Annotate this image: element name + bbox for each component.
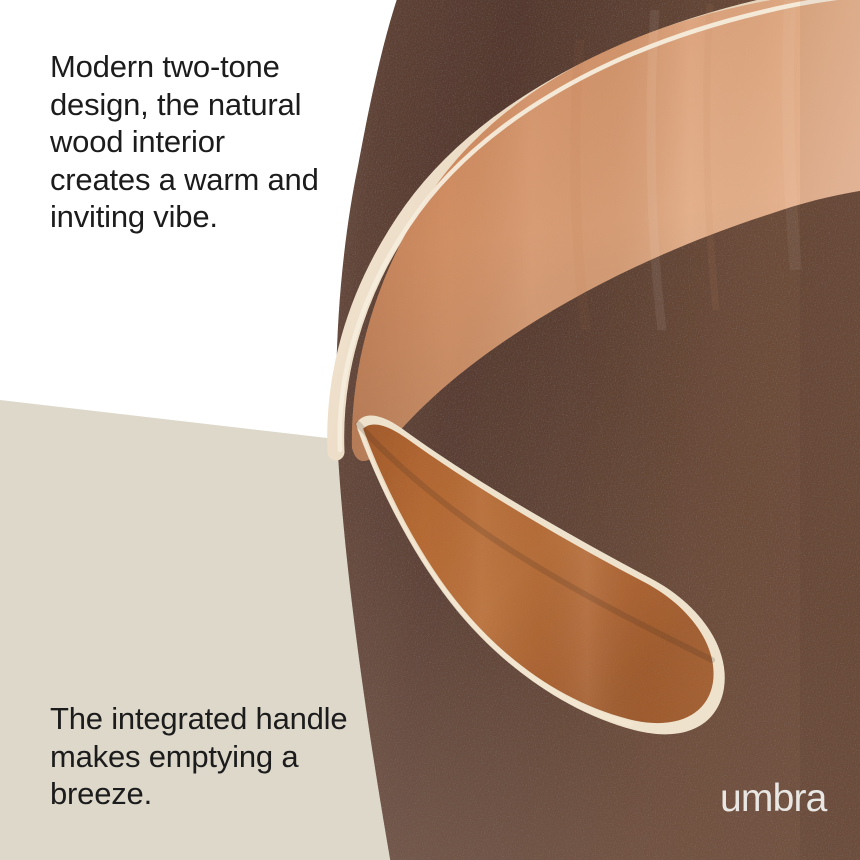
caption-top: Modern two-tone design, the natural wood…	[50, 48, 320, 236]
waste-can	[336, 0, 860, 860]
exterior-right-vignette	[800, 0, 860, 860]
product-marketing-image: Modern two-tone design, the natural wood…	[0, 0, 860, 860]
caption-bottom: The integrated handle makes emptying a b…	[50, 700, 350, 813]
umbra-logo: umbra	[720, 779, 827, 818]
